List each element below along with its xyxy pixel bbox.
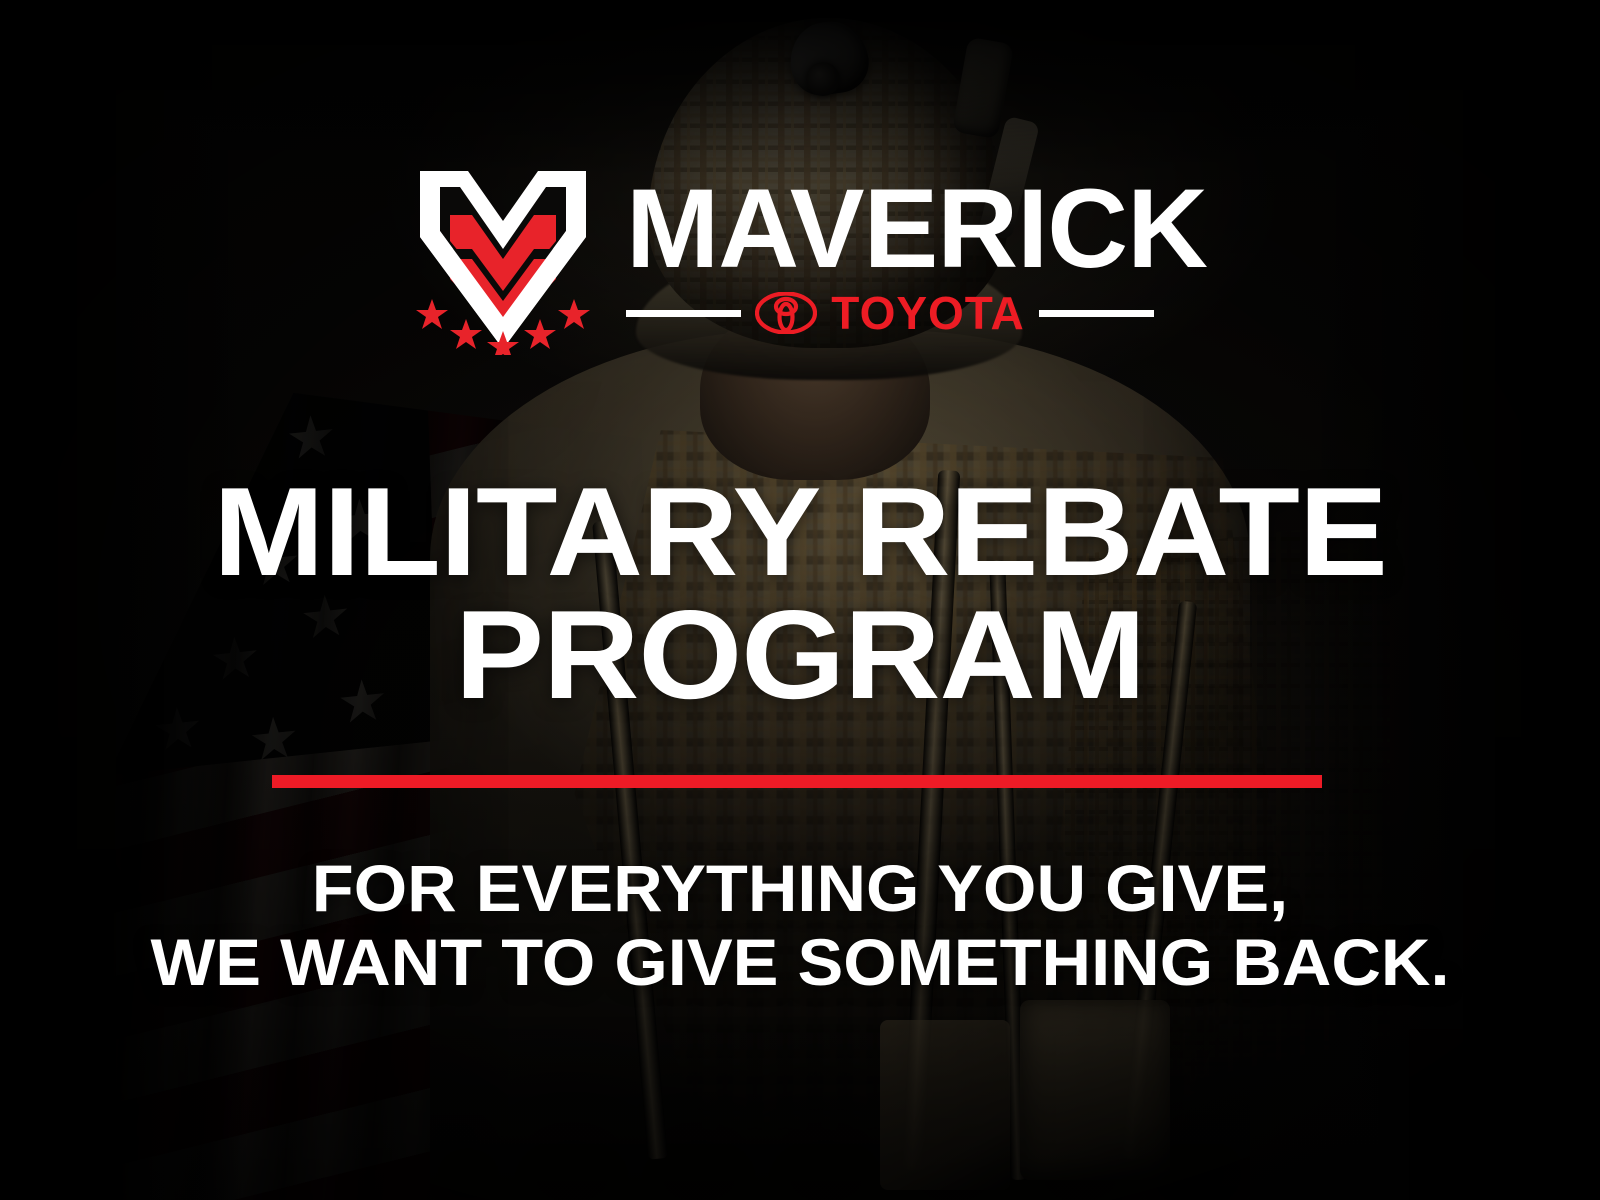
- tagline-line-2: WE WANT TO GIVE SOMETHING BACK.: [0, 926, 1600, 1000]
- headline-line-2: PROGRAM: [0, 593, 1600, 716]
- brand-wordmark: MAVERICK TOYOTA: [626, 163, 1207, 336]
- tagline: FOR EVERYTHING YOU GIVE, WE WANT TO GIVE…: [0, 852, 1600, 1000]
- brand-logo-lockup[interactable]: MAVERICK TOYOTA: [410, 163, 1207, 355]
- page-title: MILITARY REBATE PROGRAM: [0, 470, 1600, 717]
- chevron-shield-emblem-icon: [410, 163, 596, 355]
- toyota-sub-brand-row: TOYOTA: [626, 290, 1154, 336]
- toyota-sub-brand-label: TOYOTA: [831, 290, 1024, 336]
- promo-banner: MAVERICK TOYOTA MILITARY REBATE PROGRAM: [0, 0, 1600, 1200]
- headline-line-1: MILITARY REBATE: [0, 470, 1600, 593]
- toyota-ellipse-logo-icon: [755, 292, 817, 334]
- tagline-line-1: FOR EVERYTHING YOU GIVE,: [0, 852, 1600, 926]
- divider-rule-left: [626, 310, 741, 317]
- brand-name: MAVERICK: [626, 177, 1207, 280]
- divider-rule-right: [1039, 310, 1154, 317]
- red-divider-rule: [272, 775, 1322, 788]
- banner-content: MAVERICK TOYOTA MILITARY REBATE PROGRAM: [0, 0, 1600, 1200]
